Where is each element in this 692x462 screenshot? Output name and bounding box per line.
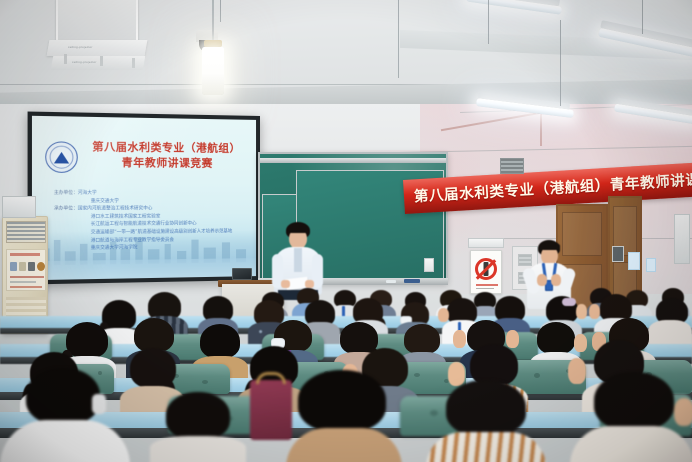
projection-screen: 第八届水利类专业（港航组） 青年教师讲课竞赛 主办单位：河海大学 重庆交通大学 …	[28, 111, 260, 284]
door-sign-plate	[612, 246, 624, 262]
sign-header-plate	[468, 238, 504, 248]
projector-mount-leg	[100, 56, 103, 66]
attendee-hand	[551, 274, 561, 286]
projection-screen-surface: 第八届水利类专业（港航组） 青年教师讲课竞赛 主办单位：河海大学 重庆交通大学 …	[32, 116, 256, 280]
slide-water-photo	[32, 258, 256, 280]
podium-monitor[interactable]	[232, 268, 252, 280]
sign-text-line	[476, 284, 498, 286]
audience-member-foreground	[570, 372, 692, 462]
pendant-rod	[212, 0, 214, 42]
presenter-hair-fringe	[287, 224, 309, 233]
applauding-hand	[438, 308, 449, 322]
no-smoking-sign	[470, 250, 502, 294]
projector-mount-leg	[64, 54, 67, 64]
sign-text-line	[476, 288, 494, 289]
wall-outlet[interactable]	[424, 258, 434, 272]
ac-vent	[6, 221, 46, 243]
chalk-stick[interactable]	[386, 280, 396, 283]
wall-control-box[interactable]	[2, 196, 36, 218]
wall-notice	[646, 258, 656, 272]
light-hanging-wire	[220, 0, 221, 22]
slide-organizer-1: 重庆交通大学	[91, 199, 119, 204]
hair-clip	[562, 298, 576, 306]
applauding-hand	[576, 304, 587, 319]
presenter-hand	[281, 280, 290, 288]
audience-member-foreground	[150, 392, 246, 462]
projector-cage	[56, 0, 138, 42]
light-hanging-wire	[488, 0, 489, 44]
applauding-hand	[674, 398, 692, 426]
audience-member-foreground	[276, 370, 406, 462]
slide-title-line1: 第八届水利类专业（港航组）	[89, 140, 244, 157]
presenter-hand	[305, 280, 314, 288]
slide-body-text: 主办单位：河海大学 重庆交通大学 承办单位：国家内河航道整治工程技术研究中心 港…	[54, 190, 242, 254]
classroom-photo: ceiling-projector ceiling-projector	[0, 0, 692, 462]
pendant-lamp	[202, 47, 224, 95]
slide-host-2: 长江航运工程与智能航道技术交通行业协同创新中心	[91, 222, 197, 228]
audience-member-foreground	[0, 368, 130, 462]
projector-label: ceiling-projector	[68, 45, 93, 49]
handbag-handle	[256, 372, 286, 384]
light-hanging-wire	[642, 0, 643, 34]
slide-organizer-0: 河海大学	[78, 191, 97, 196]
audience-member-foreground	[426, 380, 546, 462]
slide-host-3: 交通运输部“一带一路”航道基础设施建设高级别创新人才培养示范基地	[91, 229, 233, 235]
slide-host-0: 国家内河航道整治工程技术研究中心	[78, 206, 153, 211]
slide-host-1: 港口水工建筑技术国家工程实验室	[91, 214, 161, 219]
handbag	[250, 380, 292, 440]
wall-column	[674, 214, 690, 264]
wall-vent	[500, 158, 524, 174]
pendant-cap	[204, 40, 222, 47]
projector-label: ceiling-projector	[72, 60, 97, 64]
door-notice-sign	[628, 252, 640, 270]
slide-host-5: 重庆交通大学河海学院	[91, 245, 138, 251]
attendee-hand	[537, 274, 547, 286]
slide-host-label: 承办单位：	[54, 207, 78, 212]
face-mask-strap	[92, 394, 106, 414]
attendee-hair-fringe	[539, 242, 560, 250]
presenter-shirt-placket	[294, 248, 302, 272]
applauding-hand	[589, 304, 600, 319]
light-hanging-wire	[398, 0, 399, 78]
light-hanging-wire	[560, 20, 561, 106]
slide-title-line2: 青年教师讲课竞赛	[89, 155, 244, 172]
slide-organizer-label: 主办单位：	[54, 191, 78, 196]
slide-title: 第八届水利类专业（港航组） 青年教师讲课竞赛	[89, 140, 244, 172]
university-emblem-icon	[45, 141, 78, 173]
slide-host-4: 港口航道与海岸工程专业教学指导委员会	[91, 237, 174, 243]
projector-mount-leg	[132, 58, 135, 68]
ac-info-panel	[6, 249, 46, 291]
projector-mount-plate	[47, 40, 148, 56]
presenter	[272, 222, 324, 298]
chalkboard-eraser[interactable]	[404, 279, 420, 283]
chalkboard-rail	[260, 158, 446, 163]
